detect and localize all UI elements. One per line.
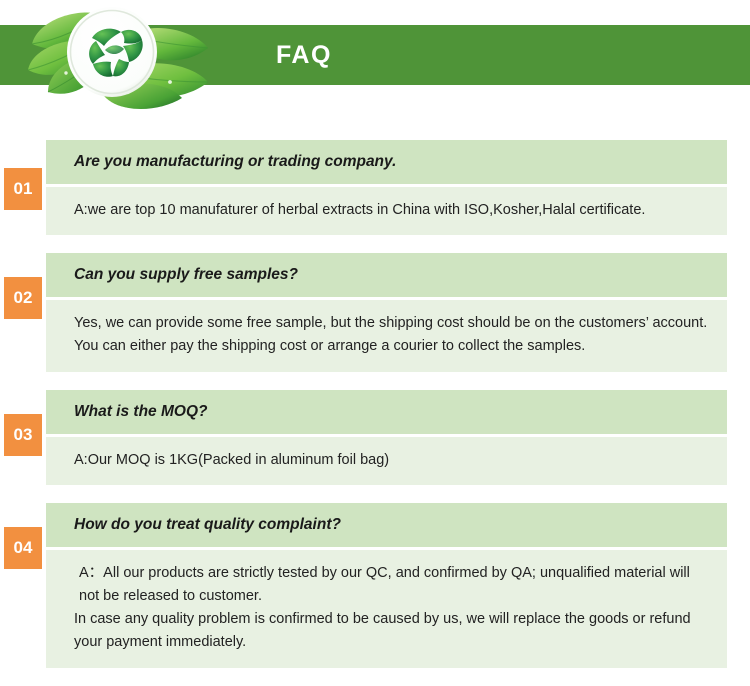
faq-item: 04 How do you treat quality complaint? A… bbox=[0, 503, 750, 668]
faq-answer: A：All our products are strictly tested b… bbox=[46, 550, 727, 668]
faq-answer-line: A：All our products are strictly tested b… bbox=[74, 562, 709, 608]
faq-answer: A:Our MOQ is 1KG(Packed in aluminum foil… bbox=[46, 437, 727, 485]
faq-number-badge: 03 bbox=[4, 414, 42, 456]
faq-question[interactable]: Can you supply free samples? bbox=[46, 253, 727, 297]
faq-number-badge: 01 bbox=[4, 168, 42, 210]
faq-item: 02 Can you supply free samples? Yes, we … bbox=[0, 253, 750, 371]
faq-answer: A:we are top 10 manufaturer of herbal ex… bbox=[46, 187, 727, 235]
faq-question[interactable]: What is the MOQ? bbox=[46, 390, 727, 434]
faq-number-badge: 04 bbox=[4, 527, 42, 569]
faq-item: 03 What is the MOQ? A:Our MOQ is 1KG(Pac… bbox=[0, 390, 750, 485]
leaf-circle-logo bbox=[18, 0, 228, 110]
faq-answer-line: A:Our MOQ is 1KG(Packed in aluminum foil… bbox=[74, 449, 709, 472]
faq-number-badge: 02 bbox=[4, 277, 42, 319]
faq-list: 01 Are you manufacturing or trading comp… bbox=[0, 140, 750, 686]
faq-question[interactable]: Are you manufacturing or trading company… bbox=[46, 140, 727, 184]
faq-card: Are you manufacturing or trading company… bbox=[46, 140, 727, 235]
faq-item: 01 Are you manufacturing or trading comp… bbox=[0, 140, 750, 235]
faq-answer: Yes, we can provide some free sample, bu… bbox=[46, 300, 727, 371]
faq-card: What is the MOQ? A:Our MOQ is 1KG(Packed… bbox=[46, 390, 727, 485]
faq-question[interactable]: How do you treat quality complaint? bbox=[46, 503, 727, 547]
faq-answer-line: A:we are top 10 manufaturer of herbal ex… bbox=[74, 199, 709, 222]
faq-card: How do you treat quality complaint? A：Al… bbox=[46, 503, 727, 668]
faq-answer-line: In case any quality problem is confirmed… bbox=[74, 608, 709, 654]
faq-answer-line: Yes, we can provide some free sample, bu… bbox=[74, 312, 709, 358]
faq-card: Can you supply free samples? Yes, we can… bbox=[46, 253, 727, 371]
page-header: FAQ bbox=[0, 0, 750, 118]
page-title: FAQ bbox=[276, 25, 332, 85]
